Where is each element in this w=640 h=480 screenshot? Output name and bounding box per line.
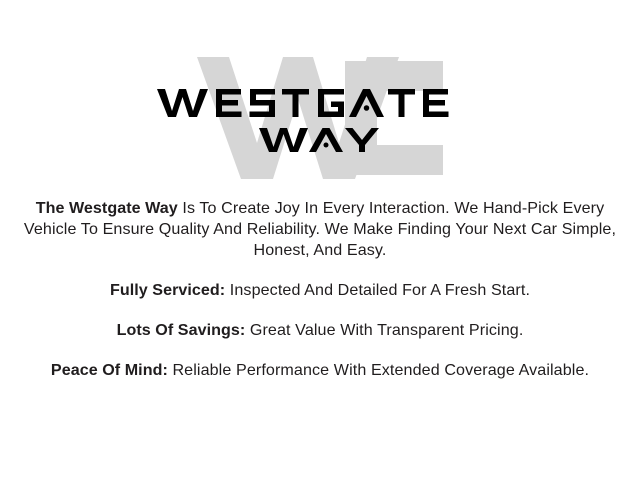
- paragraph-lead: Fully Serviced:: [110, 281, 225, 299]
- body-copy: The Westgate Way Is To Create Joy In Eve…: [12, 198, 628, 381]
- paragraph-lead: The Westgate Way: [36, 199, 178, 217]
- wordmark-way: [257, 126, 383, 154]
- logo-lockup: [0, 52, 640, 184]
- paragraph-lots-of-savings: Lots Of Savings: Great Value With Transp…: [12, 320, 628, 341]
- paragraph-lead: Lots Of Savings:: [117, 321, 246, 339]
- paragraph-lead: Peace Of Mind:: [51, 361, 168, 379]
- paragraph-peace-of-mind: Peace Of Mind: Reliable Performance With…: [12, 360, 628, 381]
- paragraph-westgate-way: The Westgate Way Is To Create Joy In Eve…: [12, 198, 628, 261]
- paragraph-fully-serviced: Fully Serviced: Inspected And Detailed F…: [12, 280, 628, 301]
- wordmark-westgate: [155, 86, 485, 120]
- paragraph-text: Inspected And Detailed For A Fresh Start…: [225, 281, 530, 299]
- paragraph-text: Reliable Performance With Extended Cover…: [168, 361, 589, 379]
- westgate-way-wordmark: [0, 52, 640, 184]
- paragraph-text: Great Value With Transparent Pricing.: [245, 321, 523, 339]
- westgate-way-promo-page: The Westgate Way Is To Create Joy In Eve…: [0, 0, 640, 480]
